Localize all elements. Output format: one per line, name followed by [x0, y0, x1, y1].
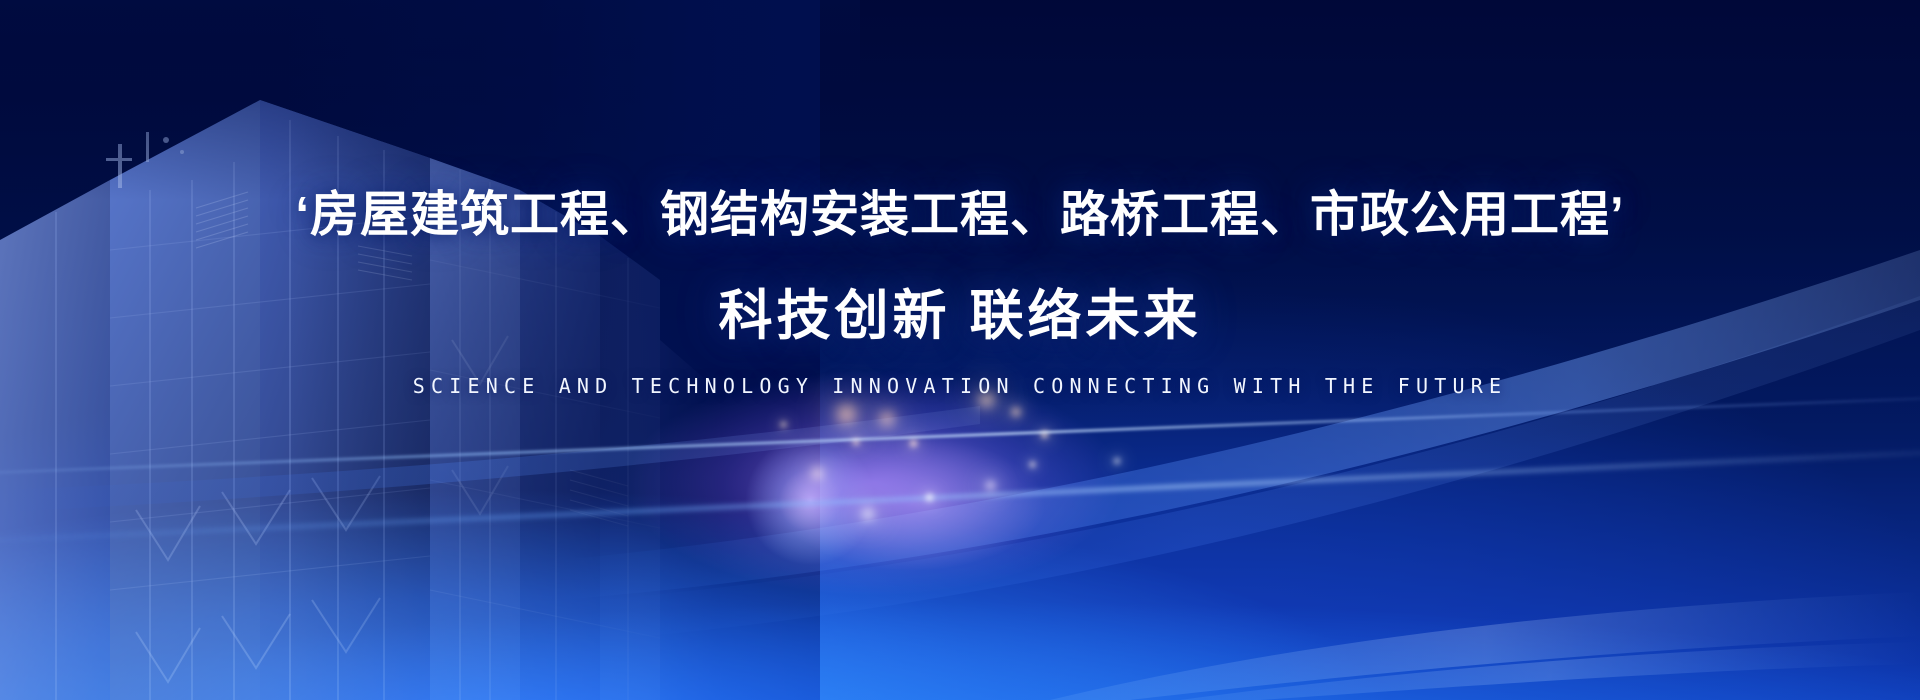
bokeh-dot: [811, 467, 824, 480]
bokeh-dot: [836, 404, 857, 425]
bokeh-dot: [861, 507, 875, 521]
bokeh-dot: [1011, 407, 1021, 417]
bokeh-dot: [985, 480, 996, 491]
bokeh-dot: [1040, 430, 1049, 439]
bokeh-dot: [852, 438, 860, 446]
page-title: ‘房屋建筑工程、钢结构安装工程、路桥工程、市政公用工程’: [0, 186, 1920, 246]
hero-banner: ‘房屋建筑工程、钢结构安装工程、路桥工程、市政公用工程’ 科技创新 联络未来 S…: [0, 0, 1920, 700]
banner-slogan: 科技创新 联络未来: [0, 284, 1920, 349]
banner-copy: ‘房屋建筑工程、钢结构安装工程、路桥工程、市政公用工程’ 科技创新 联络未来 S…: [0, 186, 1920, 398]
bokeh-dot: [780, 421, 787, 428]
bokeh-dot: [1029, 461, 1036, 468]
bokeh-dot: [1113, 457, 1121, 465]
bokeh-dot: [925, 493, 934, 502]
banner-subtitle: SCIENCE AND TECHNOLOGY INNOVATION CONNEC…: [0, 374, 1920, 398]
bokeh-dot: [879, 411, 895, 427]
bokeh-dot: [909, 439, 918, 448]
